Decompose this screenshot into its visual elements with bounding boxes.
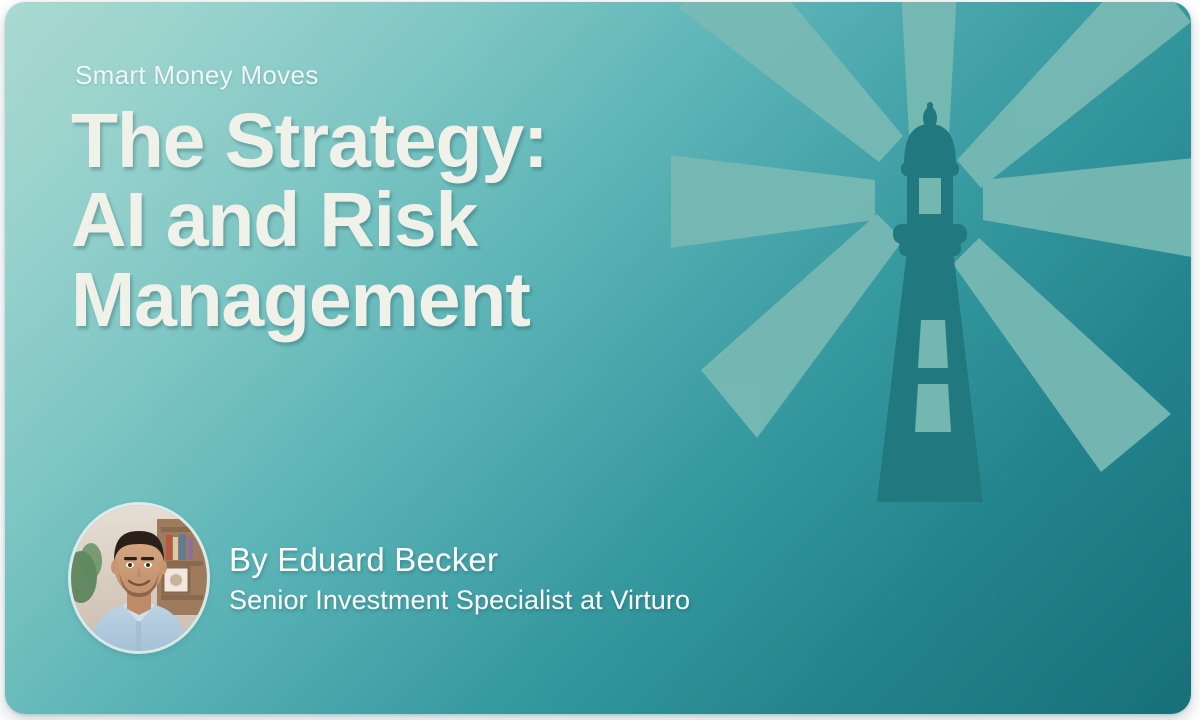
author-text: By Eduard Becker Senior Investment Speci…: [229, 541, 690, 616]
author-block: By Eduard Becker Senior Investment Speci…: [71, 505, 690, 651]
author-role: Senior Investment Specialist at Virturo: [229, 585, 690, 616]
headline-line-3: Management: [71, 261, 547, 340]
article-cover-card: Smart Money Moves The Strategy: AI and R…: [5, 2, 1191, 714]
cover-content: Smart Money Moves The Strategy: AI and R…: [71, 2, 831, 714]
headline-line-2: AI and Risk: [71, 181, 547, 260]
screenshot-stage: Smart Money Moves The Strategy: AI and R…: [0, 0, 1200, 720]
avatar: [71, 505, 207, 651]
avatar-photo: [71, 505, 207, 651]
author-name: By Eduard Becker: [229, 541, 690, 579]
lighthouse-windows: [915, 178, 951, 432]
page-title: The Strategy: AI and Risk Management: [71, 102, 547, 340]
series-eyebrow: Smart Money Moves: [75, 60, 319, 91]
lighthouse-icon: [877, 102, 983, 502]
headline-line-1: The Strategy:: [71, 102, 547, 181]
